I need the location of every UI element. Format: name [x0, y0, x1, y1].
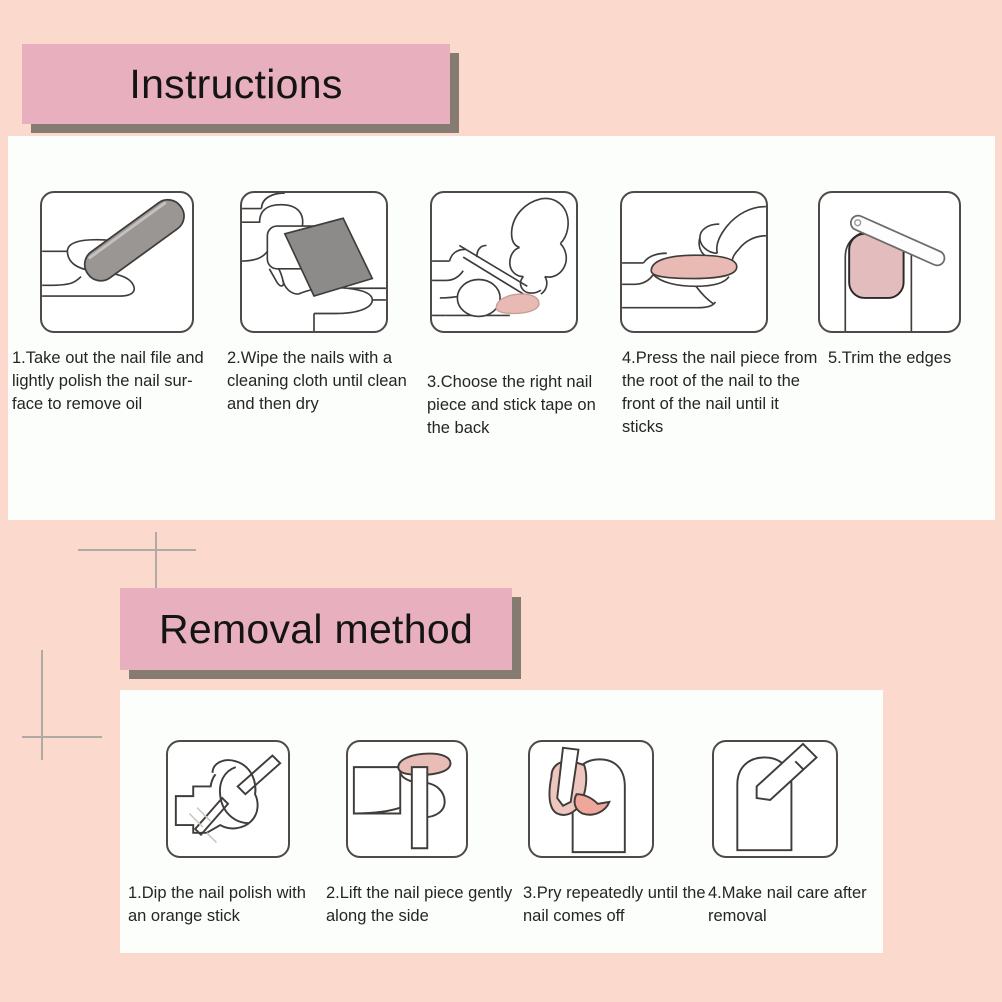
cross-horizontal-line: [22, 736, 102, 738]
dip-orange-stick-icon: [168, 742, 288, 856]
removal-caption-2: 2.Lift the nail piece gently along the s…: [326, 882, 524, 928]
lift-nail-piece-icon: [348, 742, 466, 856]
panel-edge-sliver: [995, 136, 1002, 520]
step-caption-2: 2.Wipe the nails with a cleaning cloth u…: [227, 347, 427, 416]
instructions-heading-text: Instructions: [129, 64, 342, 105]
cross-mark-top-icon: [78, 532, 196, 594]
removal-illustration-3: [528, 740, 654, 858]
pick-nail-piece-icon: [432, 193, 576, 331]
pry-nail-off-icon: [530, 742, 652, 856]
nail-care-after-removal-icon: [714, 742, 836, 856]
cross-horizontal-line: [78, 549, 196, 551]
press-nail-piece-icon: [622, 193, 766, 331]
removal-caption-1: 1.Dip the nail polish with an orange sti…: [128, 882, 328, 928]
cross-vertical-line: [155, 532, 157, 594]
cross-mark-bottom-icon: [22, 650, 102, 760]
banner-plate: Instructions: [22, 44, 450, 124]
removal-illustration-1: [166, 740, 290, 858]
step-illustration-4: [620, 191, 768, 333]
banner-plate: Removal method: [120, 588, 512, 670]
removal-heading-text: Removal method: [159, 609, 473, 650]
step-caption-4: 4.Press the nail piece from the root of …: [622, 347, 822, 439]
removal-illustration-2: [346, 740, 468, 858]
trim-edges-file-icon: [820, 193, 959, 331]
step-caption-5: 5.Trim the edges: [828, 347, 988, 370]
instructions-heading-banner: Instructions: [22, 44, 450, 124]
removal-illustration-4: [712, 740, 838, 858]
cross-vertical-line: [41, 650, 43, 760]
nail-file-polish-icon: [42, 193, 192, 331]
step-caption-3: 3.Choose the right nail piece and stick …: [427, 371, 622, 440]
removal-heading-banner: Removal method: [120, 588, 512, 670]
step-illustration-3: [430, 191, 578, 333]
step-caption-1: 1.Take out the nail file and lightly pol…: [12, 347, 217, 416]
step-illustration-2: [240, 191, 388, 333]
cleaning-cloth-wipe-icon: [242, 193, 386, 331]
removal-caption-4: 4.Make nail care after removal: [708, 882, 878, 928]
step-illustration-1: [40, 191, 194, 333]
removal-caption-3: 3.Pry repeatedly until the nail comes of…: [523, 882, 721, 928]
step-illustration-5: [818, 191, 961, 333]
